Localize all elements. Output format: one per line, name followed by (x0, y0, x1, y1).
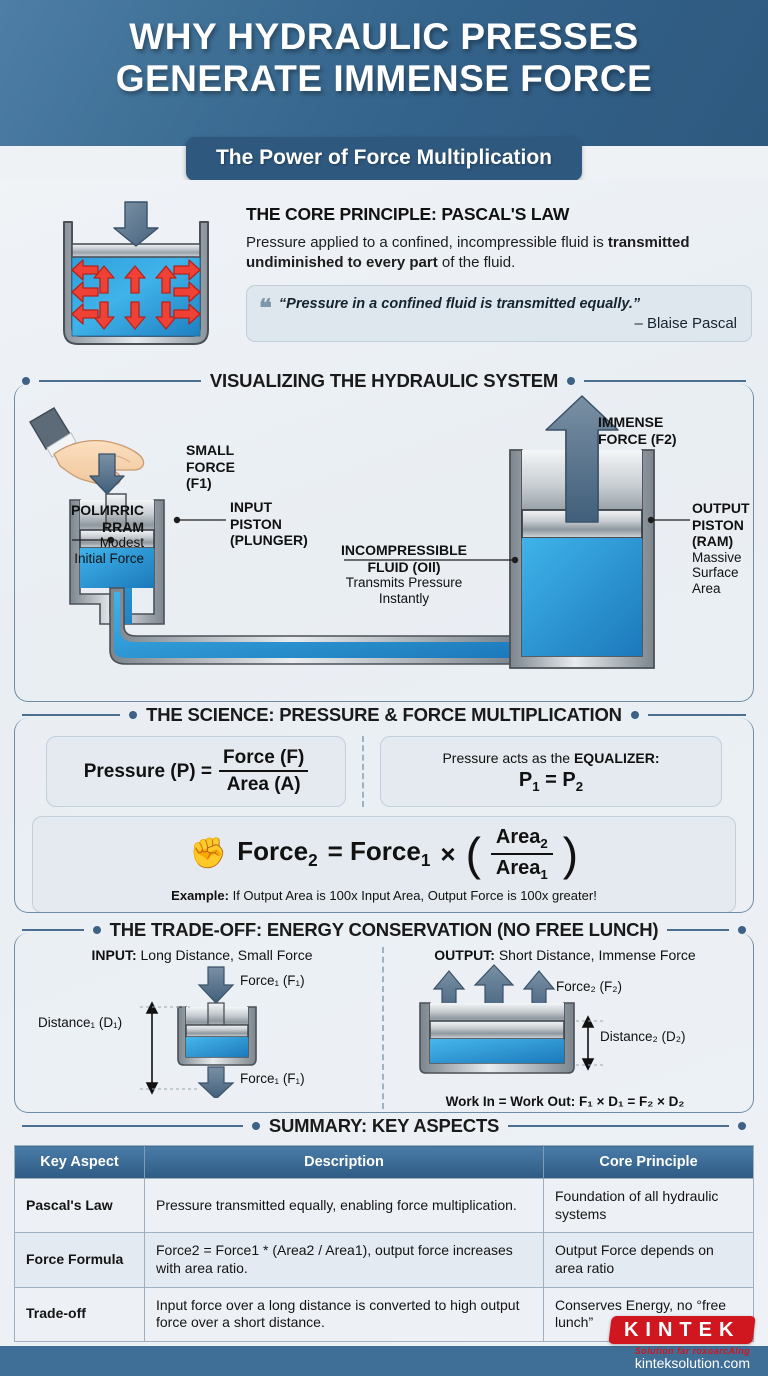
column-header-core-principle: Core Principle (544, 1146, 754, 1179)
output-piston-line1: OUTPUT (692, 500, 750, 517)
summary-table-head: Key Aspect Description Core Principle (15, 1146, 754, 1179)
fluid-sub1: Transmits Pressure (346, 575, 463, 590)
eq-p1: P (519, 769, 532, 791)
core-principle-text: THE CORE PRINCIPLE: PASCAL'S LAW Pressur… (246, 194, 752, 360)
core-body-part2: of the fluid. (438, 254, 516, 271)
connector-line-right (648, 714, 746, 716)
immense-force-line2: FORCE (F2) (598, 431, 677, 448)
tradeoff-output-title: OUTPUT: Short Distance, Immense Force (384, 947, 746, 963)
area-num-text: Area (496, 826, 540, 848)
input-title-bold: INPUT: (92, 947, 137, 963)
table-row: Force Formula Force2 = Force1 * (Area2 /… (15, 1233, 754, 1287)
subtitle-banner: The Power of Force Multiplication (186, 137, 582, 180)
summary-heading-row: SUMMARY: KEY ASPECTS (14, 1115, 754, 1137)
paren-close: ) (563, 836, 578, 873)
footer-url[interactable]: kinteksolution.com (635, 1355, 750, 1371)
pascal-beaker-diagram (42, 200, 232, 360)
connector-line-left (22, 714, 120, 716)
tradeoff-input-title: INPUT: Long Distance, Small Force (22, 947, 382, 963)
force2-label: Force₂ (F₂) (556, 979, 622, 994)
summary-heading: SUMMARY: KEY ASPECTS (269, 1115, 499, 1137)
table-header-row: Key Aspect Description Core Principle (15, 1146, 754, 1179)
core-principle-heading: THE CORE PRINCIPLE: PASCAL'S LAW (246, 204, 752, 225)
page-title: WHY HYDRAULIC PRESSES GENERATE IMMENSE F… (0, 16, 768, 100)
core-principle-body: Pressure applied to a confined, incompre… (246, 233, 752, 273)
incompressible-fluid-label: INCOMPRESSIBLE FLUID (OIl) Transmits Pre… (314, 542, 494, 607)
immense-force-label: IMMENSE FORCE (F2) (598, 414, 677, 447)
tradeoff-output-column: OUTPUT: Short Distance, Immense Force (384, 947, 746, 1109)
volumetric-ram-sub1: Modest (100, 535, 144, 550)
volumetric-ram-label: POLИRRIC RRAM Modest Initial Force (26, 502, 144, 567)
pressure-denominator: Area (A) (219, 772, 308, 796)
force-multiplication-equation: ✊ Force2 = Force1 × ( Area2 Area1 ) (43, 826, 725, 882)
big-force-lhs-text: Force (237, 836, 308, 866)
force-multiplication-box: ✊ Force2 = Force1 × ( Area2 Area1 ) Exam… (32, 816, 736, 913)
output-piston-label: OUTPUT PISTON (RAM) Massive Surface Area (692, 500, 750, 597)
pressure-formula: Pressure (P) = Force (F) Area (A) (84, 747, 309, 796)
row-description: Pressure transmitted equally, enabling f… (145, 1179, 544, 1233)
tradeoff-heading: THE TRADE-OFF: ENERGY CONSERVATION (NO F… (110, 919, 659, 941)
formula-row: Pressure (P) = Force (F) Area (A) Pressu… (14, 726, 754, 807)
tradeoff-heading-row: THE TRADE-OFF: ENERGY CONSERVATION (NO F… (14, 919, 754, 941)
tradeoff-columns: INPUT: Long Distance, Small Force (14, 941, 754, 1113)
eq-mid: = P (540, 769, 576, 791)
area-num-sub: 2 (540, 836, 547, 851)
connector-line-right (667, 929, 729, 931)
summary-table: Key Aspect Description Core Principle Pa… (14, 1145, 754, 1342)
page-header: WHY HYDRAULIC PRESSES GENERATE IMMENSE F… (0, 0, 768, 180)
input-force-arrow-bottom (199, 1067, 233, 1098)
connector-line-left (22, 1125, 243, 1127)
output-sub2: Surface (692, 565, 739, 580)
example-bold: Example: (171, 888, 229, 903)
tradeoff-input-column: INPUT: Long Distance, Small Force (22, 947, 384, 1109)
force1-bottom-label: Force₁ (F₁) (240, 1071, 305, 1086)
input-force-arrow-top (199, 967, 233, 1003)
big-force-lhs-sub: 2 (308, 851, 318, 871)
row-description: Force2 = Force1 * (Area2 / Area1), outpu… (145, 1233, 544, 1287)
distance1-label: Distance₁ (D₁) (38, 1015, 122, 1030)
area-den-sub: 1 (540, 867, 547, 882)
small-force-line2: FORCE (186, 459, 235, 476)
bullet-dot-icon (22, 377, 30, 385)
big-force-lhs: Force2 (237, 836, 317, 871)
formula-divider (346, 736, 380, 807)
hydraulic-system-heading: VISUALIZING THE HYDRAULIC SYSTEM (210, 370, 558, 392)
example-text: If Output Area is 100x Input Area, Outpu… (229, 888, 597, 903)
fluid-line1: INCOMPRESSIBLE (314, 542, 494, 559)
pascal-quote-box: ❝ “Pressure in a confined fluid is trans… (246, 285, 752, 342)
immense-force-line1: IMMENSE (598, 414, 677, 431)
hand-icon (30, 408, 144, 486)
hydraulic-system-section: VISUALIZING THE HYDRAULIC SYSTEM (14, 370, 754, 702)
bullet-dot-icon-right (738, 926, 746, 934)
hydraulic-system-heading-row: VISUALIZING THE HYDRAULIC SYSTEM (14, 370, 754, 392)
tradeoff-output-diagram: Force₂ (F₂) Distance₂ (D₂) (384, 963, 746, 1098)
equalizer-caption-bold: EQUALIZER: (574, 750, 660, 766)
column-header-description: Description (145, 1146, 544, 1179)
quote-author: – Blaise Pascal (259, 315, 737, 332)
tradeoff-section: THE TRADE-OFF: ENERGY CONSERVATION (NO F… (14, 919, 754, 1113)
small-force-label: SMALL FORCE (F1) (186, 442, 235, 492)
small-force-line3: (F1) (186, 475, 235, 492)
output-piston-line3: (RAM) (692, 533, 750, 550)
example-line: Example: If Output Area is 100x Input Ar… (43, 888, 725, 903)
equalizer-caption: Pressure acts as the EQUALIZER: (442, 750, 659, 766)
kintek-logo-text: KINTEK (623, 1319, 739, 1342)
title-line-2: GENERATE IMMENSE FORCE (0, 58, 768, 100)
output-piston-line2: PISTON (692, 517, 750, 534)
title-line-1: WHY HYDRAULIC PRESSES (0, 16, 768, 58)
quote-text: “Pressure in a confined fluid is transmi… (279, 296, 640, 312)
volumetric-ram-line1: POLИRRIC (26, 502, 144, 519)
science-heading-row: THE SCIENCE: PRESSURE & FORCE MULTIPLICA… (14, 704, 754, 726)
equalizer-caption-pre: Pressure acts as the (442, 750, 574, 766)
eq-sub1: 1 (532, 779, 539, 794)
connector-line-left (39, 380, 201, 382)
output-title-rest: Short Distance, Immense Force (495, 947, 696, 963)
column-header-key-aspect: Key Aspect (15, 1146, 145, 1179)
eq-sub2: 2 (576, 779, 583, 794)
summary-section: SUMMARY: KEY ASPECTS Key Aspect Descript… (14, 1115, 754, 1342)
row-aspect: Pascal's Law (15, 1179, 145, 1233)
connector-line-left (22, 929, 84, 931)
table-row: Pascal's Law Pressure transmitted equall… (15, 1179, 754, 1233)
tradeoff-input-diagram: Distance₁ (D₁) Force₁ (F₁) Force₁ (F₁) (22, 963, 382, 1098)
big-force-eq-text: = Force (328, 836, 421, 866)
connector-line-right (508, 1125, 729, 1127)
connector-line-right (584, 380, 746, 382)
big-force-rhs-sub: 1 (421, 851, 431, 871)
row-principle: Foundation of all hydraulic systems (544, 1179, 754, 1233)
distance2-label: Distance₂ (D₂) (600, 1029, 686, 1044)
small-force-line1: SMALL (186, 442, 235, 459)
row-aspect: Force Formula (15, 1233, 145, 1287)
quote-mark-icon: ❝ (259, 299, 272, 318)
volumetric-ram-sub2: Initial Force (74, 551, 144, 566)
bullet-dot-icon-right (567, 377, 575, 385)
science-heading: THE SCIENCE: PRESSURE & FORCE MULTIPLICA… (146, 704, 622, 726)
row-principle: Output Force depends on area ratio (544, 1233, 754, 1287)
big-force-times: × (440, 839, 455, 870)
pressure-formula-box: Pressure (P) = Force (F) Area (A) (46, 736, 346, 807)
output-title-bold: OUTPUT: (434, 947, 495, 963)
infographic-page: WHY HYDRAULIC PRESSES GENERATE IMMENSE F… (0, 0, 768, 1376)
bullet-dot-icon-right (738, 1122, 746, 1130)
science-section: THE SCIENCE: PRESSURE & FORCE MULTIPLICA… (14, 704, 754, 913)
page-footer: KINTEK Solution far roxoarcAlng kintekso… (0, 1316, 768, 1376)
big-force-eq: = Force1 (328, 836, 431, 871)
beaker-illustration-wrap (20, 194, 232, 360)
force1-top-label: Force₁ (F₁) (240, 973, 305, 988)
hydraulic-system-diagram: SMALL FORCE (F1) POLИRRIC RRAM Modest In… (14, 392, 754, 702)
output-sub1: Massive (692, 550, 742, 565)
bullet-dot-icon (93, 926, 101, 934)
input-piston-label: INPUT PISTON (PLUNGER) (230, 499, 308, 549)
fist-icon: ✊ (190, 839, 227, 869)
bullet-dot-icon (129, 711, 137, 719)
core-principle-section: THE CORE PRINCIPLE: PASCAL'S LAW Pressur… (0, 180, 768, 364)
pressure-fraction: Force (F) Area (A) (219, 747, 308, 796)
bullet-dot-icon-right (631, 711, 639, 719)
area-ratio-denominator: Area1 (491, 855, 553, 882)
area-ratio-fraction: Area2 Area1 (491, 826, 553, 882)
fluid-line2: FLUID (OIl) (314, 559, 494, 576)
input-title-rest: Long Distance, Small Force (137, 947, 313, 963)
input-piston-line3: (PLUNGER) (230, 532, 308, 549)
output-sub3: Area (692, 581, 721, 596)
area-ratio-numerator: Area2 (491, 826, 553, 855)
pressure-numerator: Force (F) (219, 747, 308, 772)
area-den-text: Area (496, 857, 540, 879)
kintek-logo[interactable]: KINTEK (608, 1316, 756, 1344)
volumetric-ram-line2: RRAM (26, 519, 144, 536)
pressure-formula-lhs: Pressure (P) = (84, 761, 212, 783)
fluid-sub2: Instantly (379, 591, 429, 606)
core-body-part1: Pressure applied to a confined, incompre… (246, 234, 608, 251)
equalizer-equation: P1 = P2 (519, 769, 583, 794)
bullet-dot-icon (252, 1122, 260, 1130)
paren-open: ( (466, 836, 481, 873)
input-piston-line1: INPUT (230, 499, 308, 516)
input-piston-line2: PISTON (230, 516, 308, 533)
equalizer-box: Pressure acts as the EQUALIZER: P1 = P2 (380, 736, 722, 807)
